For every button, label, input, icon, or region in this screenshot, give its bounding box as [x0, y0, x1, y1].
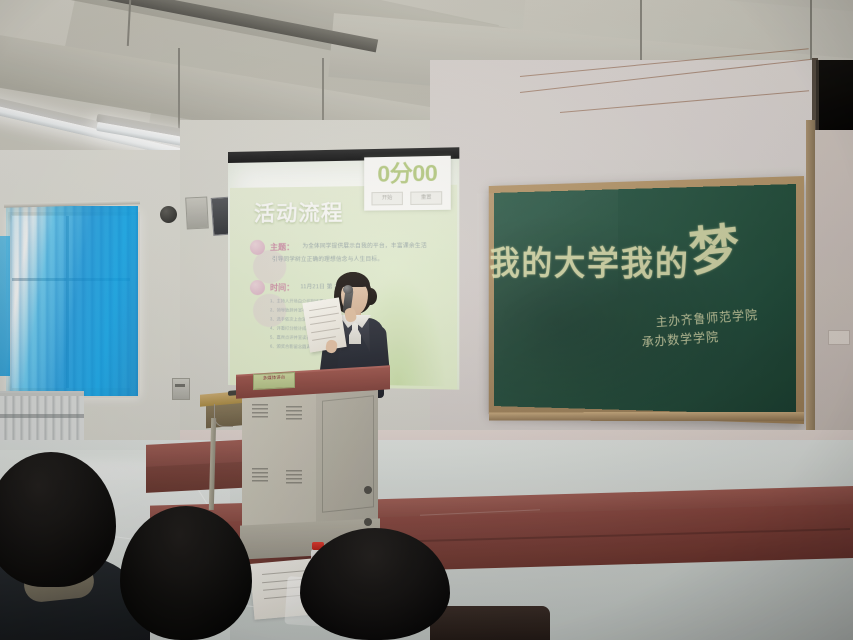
podium-vent [286, 406, 302, 422]
podium-label: 多媒体讲台 [253, 372, 295, 390]
slide-bullet-head: 主题： [270, 242, 294, 253]
blackboard-headline-text: 我的大学我的 [490, 244, 690, 285]
podium-door[interactable] [322, 395, 374, 512]
podium-vent [286, 470, 302, 486]
slide-subline: 4、评委打分统计成绩 [270, 325, 311, 331]
slide-bullet-dot [250, 280, 265, 295]
side-wall [815, 130, 853, 460]
slide-bullet-line: 为全体同学提供展示自我的平台，丰富课余生活 [302, 241, 427, 250]
timer-reset-button[interactable]: 重置 [410, 191, 442, 205]
slide-bullet-line: 引导同学树立正确的理想信念与人生目标。 [272, 255, 383, 263]
slide-bullet-head: 时间： [270, 282, 294, 293]
slide-bullet-dot [250, 240, 265, 255]
chair-back [430, 606, 550, 640]
microphone-head [343, 285, 353, 294]
timer-start-button[interactable]: 开始 [371, 192, 402, 206]
chalk-tray [489, 412, 804, 421]
wall-outlet[interactable] [172, 378, 190, 400]
podium-knob[interactable] [364, 518, 372, 526]
blue-curtain[interactable] [6, 206, 138, 396]
wall-panel [185, 196, 209, 229]
wall-plate [828, 330, 850, 345]
timer-value: 0分00 [368, 160, 446, 188]
wall-trim [806, 120, 815, 450]
script-papers[interactable] [302, 297, 346, 352]
wall-outlet-slot [175, 384, 185, 387]
podium-knob[interactable] [364, 486, 372, 494]
podium-vent [252, 404, 268, 420]
blue-curtain-edge [0, 236, 10, 376]
wall-speaker [160, 206, 177, 223]
blackboard-headline: 我的大学我的梦 [490, 216, 736, 291]
wall-monitor[interactable] [816, 60, 853, 135]
podium-vent [252, 468, 268, 484]
blackboard-headline-accent: 梦 [685, 205, 744, 285]
desk-cable [214, 404, 233, 427]
radiator-bar [0, 414, 84, 418]
classroom-photo-scene: 活动流程 主题： 为全体同学提供展示自我的平台，丰富课余生活 引导同学树立正确的… [0, 0, 853, 640]
